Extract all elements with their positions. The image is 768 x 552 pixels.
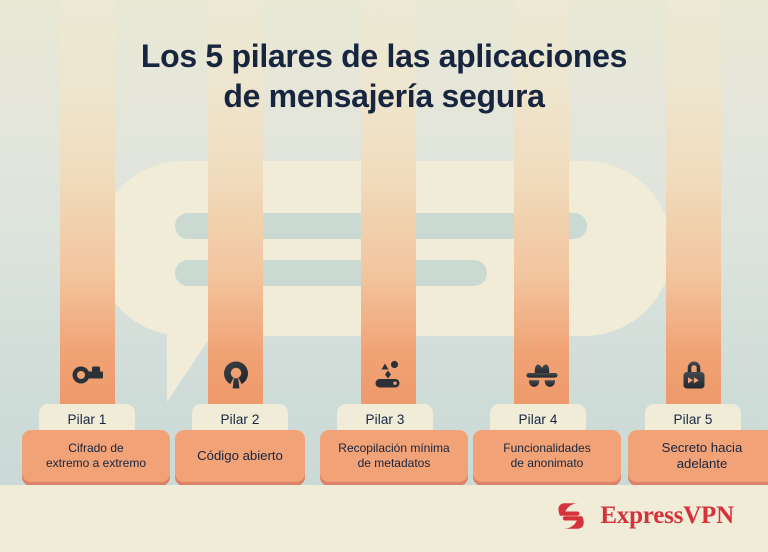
pillar-3-label: Recopilación mínima de metadatos (333, 441, 454, 471)
pillar-5-label: Secreto hacia adelante (657, 440, 748, 472)
pillars-row: Pilar 1 Cifrado de extremo a extremo Pil… (0, 404, 768, 484)
pillar-3-tab-label: Pilar 3 (366, 412, 405, 427)
expressvpn-logo[interactable]: ExpressVPN (556, 499, 734, 533)
metadata-collection-icon (361, 357, 416, 393)
pillar-3-card[interactable]: Recopilación mínima de metadatos (320, 430, 468, 482)
pillar-1-card[interactable]: Cifrado de extremo a extremo (22, 430, 170, 482)
pillar-4-card[interactable]: Funcionalidades de anonimato (473, 430, 621, 482)
expressvpn-logo-icon (556, 499, 590, 533)
key-icon (60, 357, 115, 393)
pillar-5-tab-label: Pilar 5 (674, 412, 713, 427)
pillar-4-label: Funcionalidades de anonimato (498, 441, 595, 471)
pillar-5-card[interactable]: Secreto hacia adelante (628, 430, 768, 482)
footer-bar: ExpressVPN (0, 485, 768, 552)
pillar-1-tab-label: Pilar 1 (68, 412, 107, 427)
lock-forward-icon (666, 357, 721, 393)
pillar-2-card[interactable]: Código abierto (175, 430, 305, 482)
pillar-2-label: Código abierto (192, 448, 288, 464)
page-title: Los 5 pilares de las aplicaciones de men… (0, 36, 768, 116)
infographic-canvas: Los 5 pilares de las aplicaciones de men… (0, 0, 768, 552)
pillar-2-tab-label: Pilar 2 (221, 412, 260, 427)
pillar-1-label: Cifrado de extremo a extremo (41, 441, 151, 471)
incognito-hat-icon (514, 357, 569, 393)
expressvpn-wordmark: ExpressVPN (600, 502, 734, 530)
pillar-4-tab-label: Pilar 4 (519, 412, 558, 427)
open-source-icon (208, 357, 263, 393)
